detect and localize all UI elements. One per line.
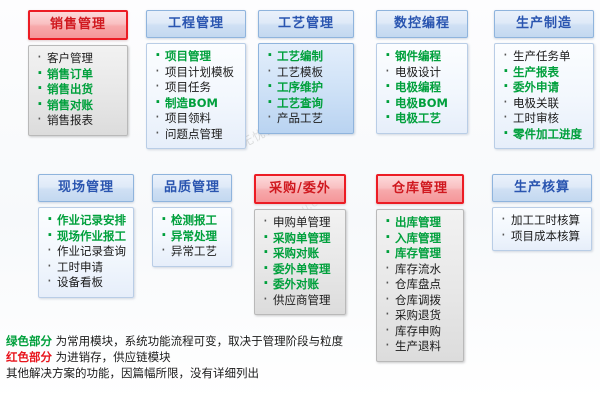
module-header-purchase[interactable]: 采购/委外 [254,174,346,204]
module-header-engineering[interactable]: 工程管理 [146,10,246,38]
list-item[interactable]: 电极BOM [381,96,463,112]
list-item[interactable]: 工时申请 [43,260,129,276]
legend-tag-green: 绿色部分 [6,334,52,348]
module-item-list-quality: 检测报工 异常处理 异常工艺 [157,213,227,260]
module-card-process[interactable]: 工艺管理 工艺编制 工艺模板 工序维护 工艺查询 产品工艺 [258,10,354,134]
list-item[interactable]: 检测报工 [157,213,227,229]
module-body-shopfloor: 作业记录安排 现场作业报工 作业记录查询 工时申请 设备看板 [38,207,134,298]
list-item[interactable]: 委外单管理 [259,262,341,278]
module-item-list-process: 工艺编制 工艺模板 工序维护 工艺查询 产品工艺 [263,49,349,127]
list-item[interactable]: 问题点管理 [151,127,241,143]
list-item[interactable]: 电极工艺 [381,111,463,127]
list-item[interactable]: 电极设计 [381,65,463,81]
list-item[interactable]: 现场作业报工 [43,229,129,245]
list-item[interactable]: 项目任务 [151,80,241,96]
module-card-sales[interactable]: 销售管理 客户管理 销售订单 销售出货 销售对账 销售报表 [28,10,128,136]
module-item-list-costing: 加工工时核算 项目成本核算 [497,213,587,244]
list-item[interactable]: 库存流水 [381,262,459,278]
module-card-quality[interactable]: 品质管理 检测报工 异常处理 异常工艺 [152,174,232,267]
list-item[interactable]: 异常工艺 [157,244,227,260]
list-item[interactable]: 仓库盘点 [381,277,459,293]
list-item[interactable]: 工艺模板 [263,65,349,81]
list-item[interactable]: 库存管理 [381,246,459,262]
list-item[interactable]: 异常处理 [157,229,227,245]
legend-line-green: 绿色部分 为常用模块，系统功能流程可变，取决于管理阶段与粒度 [6,333,426,349]
list-item[interactable]: 设备看板 [43,275,129,291]
list-item[interactable]: 委外申请 [499,80,589,96]
list-item[interactable]: 客户管理 [33,51,123,67]
legend-tag-red: 红色部分 [6,350,52,364]
list-item[interactable]: 生产任务单 [499,49,589,65]
list-item[interactable]: 销售报表 [33,113,123,129]
list-item[interactable]: 作业记录查询 [43,244,129,260]
list-item[interactable]: 工艺编制 [263,49,349,65]
module-header-quality[interactable]: 品质管理 [152,174,232,202]
list-item[interactable]: 销售出货 [33,82,123,98]
module-body-purchase: 申购单管理 采购单管理 采购对账 委外单管理 委外对账 供应商管理 [254,209,346,315]
list-item[interactable]: 项目计划模板 [151,65,241,81]
list-item[interactable]: 工序维护 [263,80,349,96]
module-item-list-cnc: 钢件编程 电极设计 电极编程 电极BOM 电极工艺 [381,49,463,127]
module-body-cnc: 钢件编程 电极设计 电极编程 电极BOM 电极工艺 [376,43,468,134]
list-item[interactable]: 入库管理 [381,231,459,247]
list-item[interactable]: 采购退货 [381,308,459,324]
list-item[interactable]: 项目管理 [151,49,241,65]
list-item[interactable]: 零件加工进度 [499,127,589,143]
module-header-sales[interactable]: 销售管理 [28,10,128,40]
list-item[interactable]: 销售订单 [33,67,123,83]
module-body-manufacturing: 生产任务单 生产报表 委外申请 电极关联 工时审核 零件加工进度 [494,43,594,149]
list-item[interactable]: 作业记录安排 [43,213,129,229]
module-header-warehouse[interactable]: 仓库管理 [376,174,464,204]
module-header-manufacturing[interactable]: 生产制造 [494,10,594,38]
list-item[interactable]: 项目领料 [151,111,241,127]
list-item[interactable]: 出库管理 [381,215,459,231]
list-item[interactable]: 电极编程 [381,80,463,96]
module-body-sales: 客户管理 销售订单 销售出货 销售对账 销售报表 [28,45,128,136]
module-card-shopfloor[interactable]: 现场管理 作业记录安排 现场作业报工 作业记录查询 工时申请 设备看板 [38,174,134,298]
list-item[interactable]: 制造BOM [151,96,241,112]
list-item[interactable]: 工艺查询 [263,96,349,112]
module-body-process: 工艺编制 工艺模板 工序维护 工艺查询 产品工艺 [258,43,354,134]
module-item-list-shopfloor: 作业记录安排 现场作业报工 作业记录查询 工时申请 设备看板 [43,213,129,291]
list-item[interactable]: 销售对账 [33,98,123,114]
list-item[interactable]: 电极关联 [499,96,589,112]
module-body-quality: 检测报工 异常处理 异常工艺 [152,207,232,267]
list-item[interactable]: 加工工时核算 [497,213,587,229]
module-header-shopfloor[interactable]: 现场管理 [38,174,134,202]
list-item[interactable]: 供应商管理 [259,293,341,309]
module-item-list-engineering: 项目管理 项目计划模板 项目任务 制造BOM 项目领料 问题点管理 [151,49,241,142]
module-card-costing[interactable]: 生产核算 加工工时核算 项目成本核算 [492,174,592,251]
legend: 绿色部分 为常用模块，系统功能流程可变，取决于管理阶段与粒度 红色部分 为进销存… [6,333,426,381]
legend-line-red: 红色部分 为进销存，供应链模块 [6,349,426,365]
module-item-list-manufacturing: 生产任务单 生产报表 委外申请 电极关联 工时审核 零件加工进度 [499,49,589,142]
list-item[interactable]: 采购单管理 [259,231,341,247]
legend-text-green: 为常用模块，系统功能流程可变，取决于管理阶段与粒度 [52,334,343,348]
module-card-manufacturing[interactable]: 生产制造 生产任务单 生产报表 委外申请 电极关联 工时审核 零件加工进度 [494,10,594,149]
list-item[interactable]: 项目成本核算 [497,229,587,245]
legend-line-note: 其他解决方案的功能，因篇幅所限，没有详细列出 [6,365,426,381]
list-item[interactable]: 申购单管理 [259,215,341,231]
module-header-costing[interactable]: 生产核算 [492,174,592,202]
list-item[interactable]: 委外对账 [259,277,341,293]
list-item[interactable]: 产品工艺 [263,111,349,127]
module-body-costing: 加工工时核算 项目成本核算 [492,207,592,251]
module-card-engineering[interactable]: 工程管理 项目管理 项目计划模板 项目任务 制造BOM 项目领料 问题点管理 [146,10,246,149]
list-item[interactable]: 工时审核 [499,111,589,127]
module-card-cnc[interactable]: 数控编程 钢件编程 电极设计 电极编程 电极BOM 电极工艺 [376,10,468,134]
module-header-cnc[interactable]: 数控编程 [376,10,468,38]
legend-text-red: 为进销存，供应链模块 [52,350,171,364]
module-header-process[interactable]: 工艺管理 [258,10,354,38]
module-item-list-purchase: 申购单管理 采购单管理 采购对账 委外单管理 委外对账 供应商管理 [259,215,341,308]
list-item[interactable]: 仓库调拨 [381,293,459,309]
list-item[interactable]: 采购对账 [259,246,341,262]
list-item[interactable]: 钢件编程 [381,49,463,65]
module-body-engineering: 项目管理 项目计划模板 项目任务 制造BOM 项目领料 问题点管理 [146,43,246,149]
module-card-purchase[interactable]: 采购/委外 申购单管理 采购单管理 采购对账 委外单管理 委外对账 供应商管理 [254,174,346,315]
list-item[interactable]: 生产报表 [499,65,589,81]
module-item-list-sales: 客户管理 销售订单 销售出货 销售对账 销售报表 [33,51,123,129]
